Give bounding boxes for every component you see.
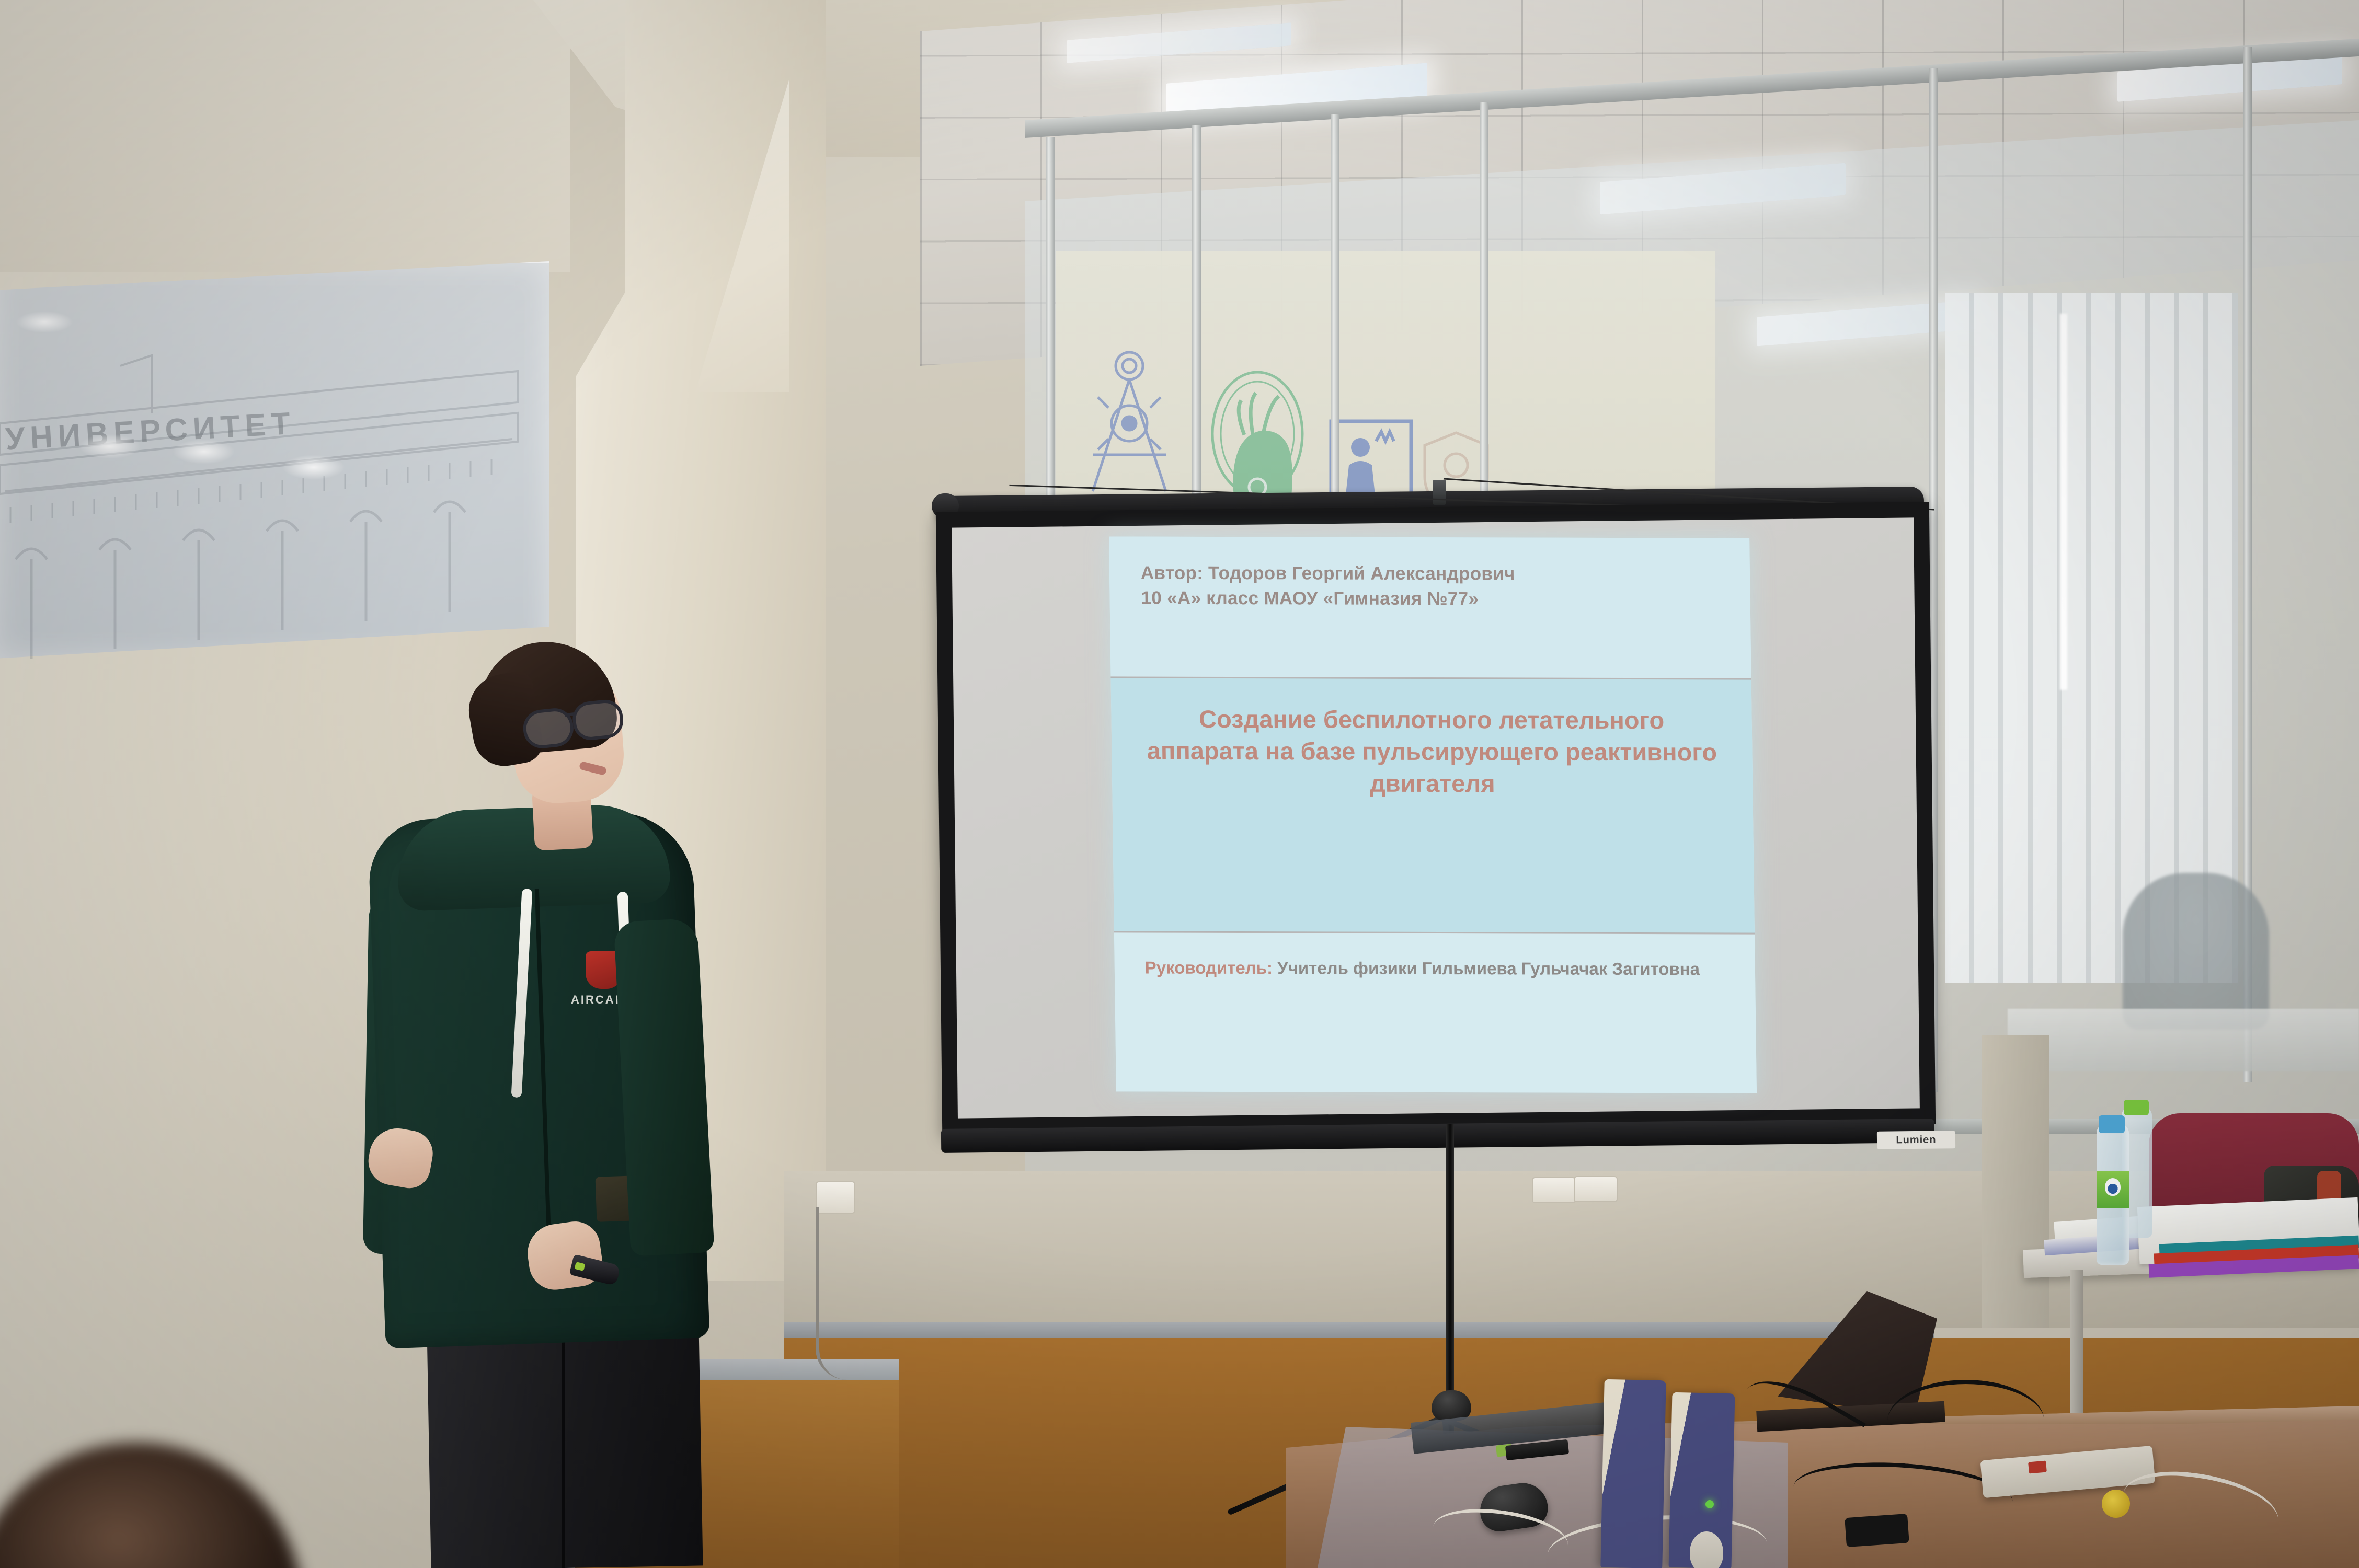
power-adapter [1845, 1514, 1909, 1547]
cable-clamp [1433, 480, 1446, 505]
slide-supervisor-text: Руководитель: Учитель физики Гильмиева Г… [1144, 955, 1723, 982]
slide-title-text: Создание беспилотного летательного аппар… [1142, 703, 1722, 800]
projected-slide: Автор: Тодоров Георгий Александрович 10 … [1109, 536, 1757, 1093]
presenter-right-arm [613, 918, 714, 1256]
slide-author-text: Автор: Тодоров Георгий Александрович 10 … [1141, 561, 1711, 613]
eyeglass-lens [571, 698, 625, 742]
right-wall-column [1982, 1035, 2049, 1328]
bottle-cap [2124, 1100, 2149, 1115]
slide-supervisor-value: Учитель физики Гильмиева Гульчачак Загит… [1273, 958, 1700, 978]
speaker-power-led [1705, 1500, 1714, 1508]
wall-power-cord [816, 1207, 856, 1380]
slide-supervisor-label: Руководитель: [1145, 958, 1273, 978]
bottle-cap [2099, 1115, 2125, 1133]
screen-brand-label: Lumien [1877, 1131, 1955, 1149]
cable [1887, 1380, 2044, 1462]
left-wall-upper [0, 0, 570, 272]
seated-person-silhouette [2123, 873, 2269, 1030]
baseboard [784, 1322, 1934, 1340]
board-frame [0, 261, 549, 661]
bottle-logo-icon [2105, 1178, 2121, 1196]
classroom-presentation-photo: УНИВЕРСИТЕТ Автор: Тодоров Георгий Алекс… [0, 0, 2359, 1568]
speaker-cone [1690, 1531, 1723, 1568]
trouser-seam [562, 1338, 565, 1568]
blinds-light-gap [2060, 314, 2067, 690]
tripod-hub [1432, 1390, 1471, 1421]
background-desk [2008, 1009, 2359, 1071]
wall-outlet[interactable] [1574, 1176, 1618, 1202]
power-strip-switch[interactable] [2028, 1461, 2047, 1474]
wall-outlet[interactable] [1532, 1177, 1576, 1203]
pc-speaker-left[interactable] [1600, 1379, 1666, 1568]
